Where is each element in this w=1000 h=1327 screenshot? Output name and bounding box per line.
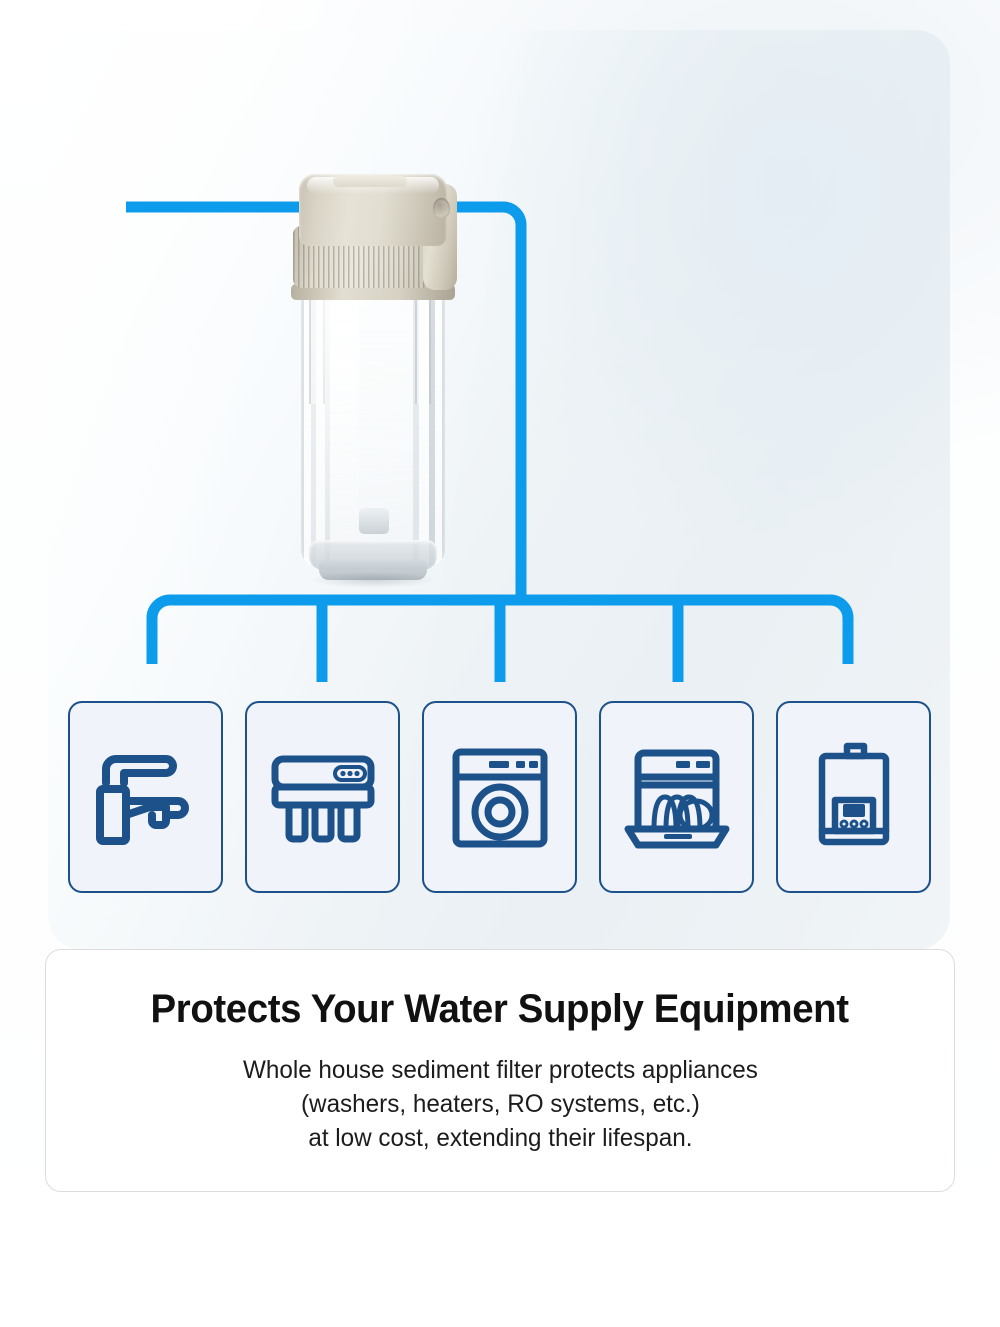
caption-body-line-3: at low cost, extending their lifespan. [308, 1124, 692, 1152]
caption-title: Protects Your Water Supply Equipment [151, 987, 849, 1031]
appliance-card-row [0, 0, 1000, 950]
water-heater-icon [811, 742, 897, 852]
caption-card: Protects Your Water Supply Equipment Who… [45, 949, 955, 1192]
washing-machine-icon [448, 744, 552, 850]
caption-body: Whole house sediment filter protects app… [243, 1053, 758, 1155]
ro-system-icon [267, 745, 379, 849]
appliance-card-faucet[interactable] [68, 701, 223, 893]
caption-body-line-2: (washers, heaters, RO systems, etc.) [301, 1090, 700, 1118]
appliance-card-ro-system[interactable] [245, 701, 400, 893]
appliance-card-dishwasher[interactable] [599, 701, 754, 893]
dishwasher-icon [622, 745, 732, 849]
promo-graphic: Protects Your Water Supply Equipment Who… [0, 0, 1000, 1327]
caption-body-line-1: Whole house sediment filter protects app… [243, 1056, 758, 1084]
appliance-card-water-heater[interactable] [776, 701, 931, 893]
faucet-icon [90, 745, 202, 849]
appliance-card-washing-machine[interactable] [422, 701, 577, 893]
